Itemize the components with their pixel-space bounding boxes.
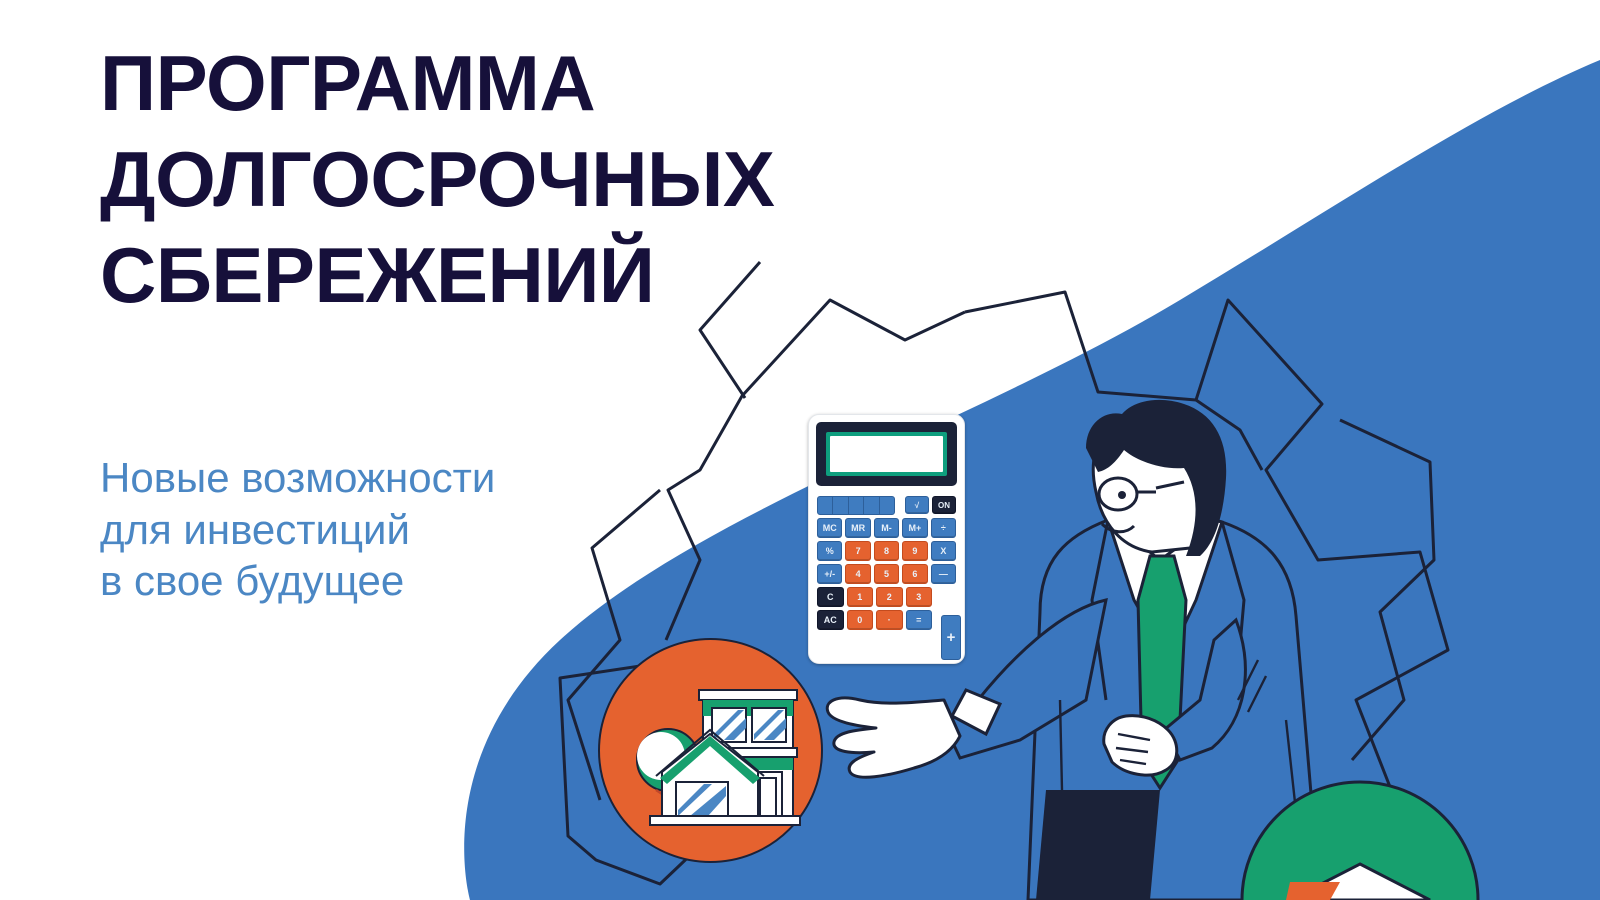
calculator-key-plus[interactable]: + bbox=[941, 615, 961, 660]
page-subtitle: Новые возможности для инвестиций в свое … bbox=[100, 334, 960, 606]
calculator-row-4[interactable]: AC 0 · = bbox=[817, 610, 932, 630]
page-title: ПРОГРАММА ДОЛГОСРОЧНЫХ СБЕРЕЖЕНИЙ bbox=[100, 46, 960, 312]
poster-canvas: ПРОГРАММА ДОЛГОСРОЧНЫХ СБЕРЕЖЕНИЙ Новые … bbox=[0, 0, 1600, 900]
poster-text-block: ПРОГРАММА ДОЛГОСРОЧНЫХ СБЕРЕЖЕНИЙ Новые … bbox=[100, 46, 960, 606]
subtitle-line-1: Новые возможности bbox=[100, 452, 960, 503]
calculator-key-equals[interactable]: = bbox=[906, 610, 933, 630]
house-icon bbox=[598, 638, 823, 863]
calculator-key-decimal[interactable]: · bbox=[876, 610, 903, 630]
headline-line-2: ДОЛГОСРОЧНЫХ bbox=[100, 142, 960, 216]
headline-line-1: ПРОГРАММА bbox=[100, 46, 960, 120]
calculator-key-ac[interactable]: AC bbox=[817, 610, 844, 630]
house-badge bbox=[598, 638, 823, 863]
subtitle-line-2: для инвестиций bbox=[100, 504, 960, 555]
headline-line-3: СБЕРЕЖЕНИЙ bbox=[100, 238, 960, 312]
calculator-key-0[interactable]: 0 bbox=[847, 610, 874, 630]
eye bbox=[1118, 491, 1126, 499]
subtitle-line-3: в свое будущее bbox=[100, 555, 960, 606]
